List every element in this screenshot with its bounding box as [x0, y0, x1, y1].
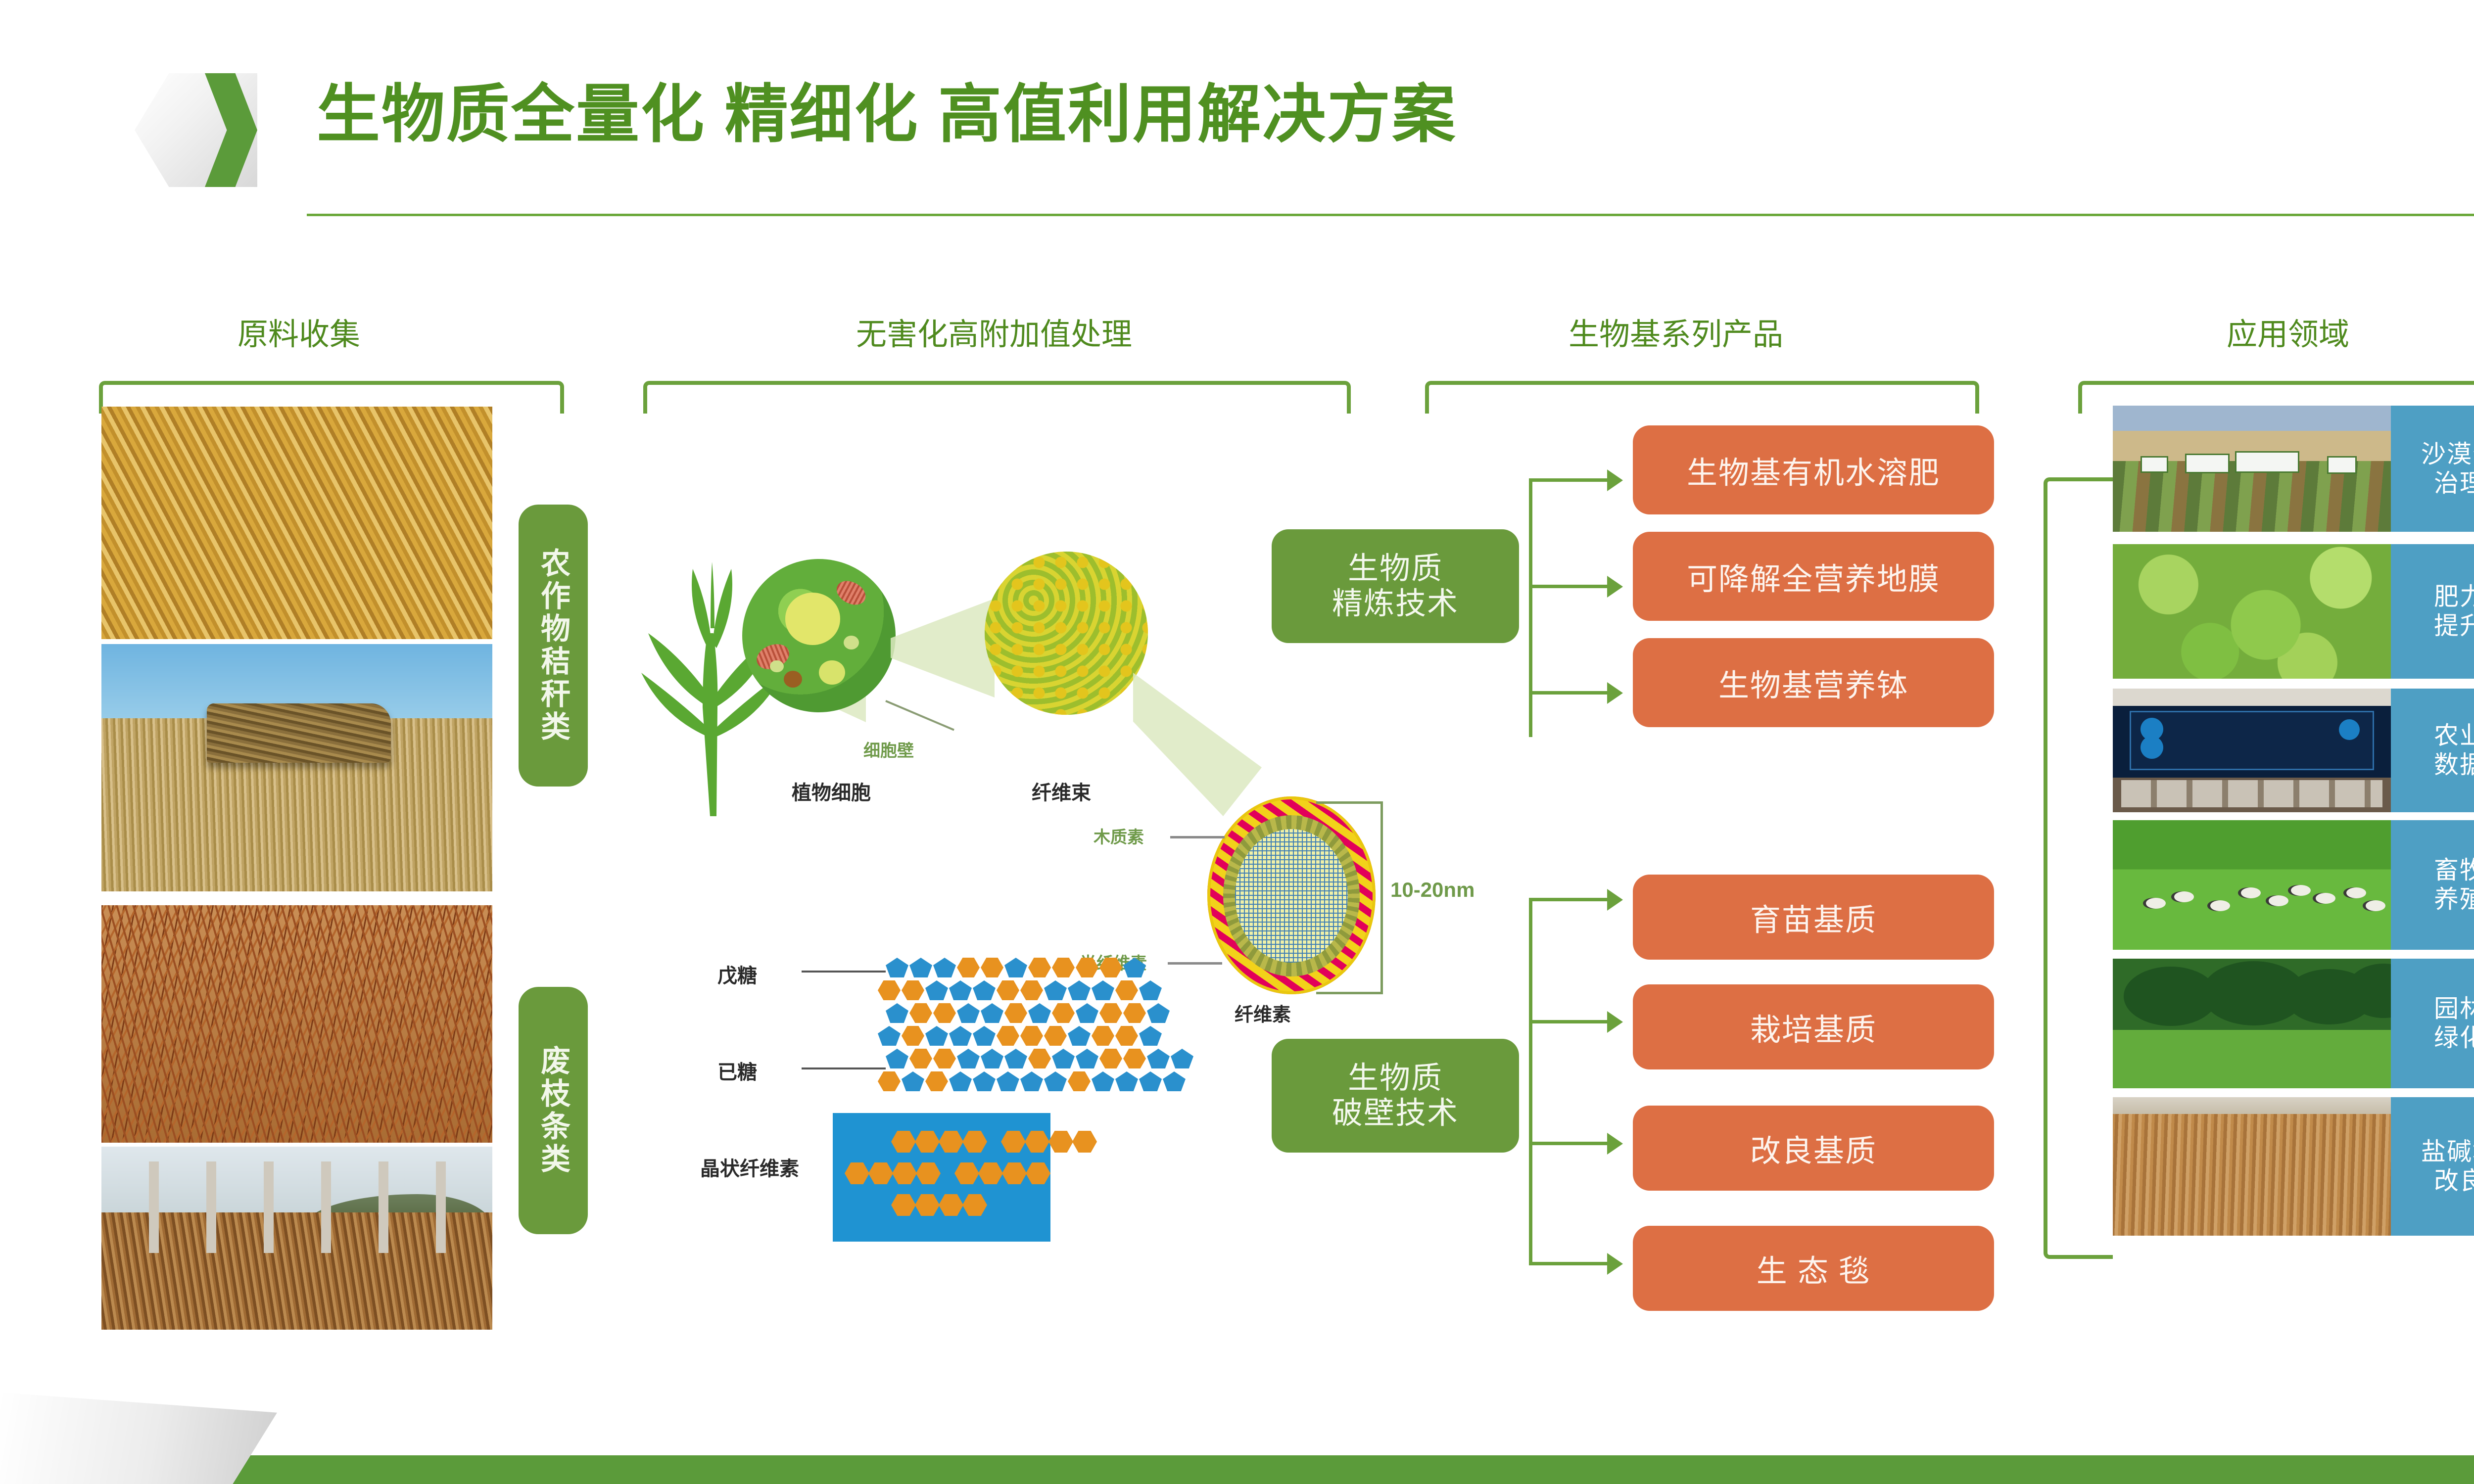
hexose-unit	[957, 958, 980, 977]
hexose-unit	[1123, 1049, 1146, 1068]
arrow-head-r2	[1607, 576, 1623, 598]
hexose-unit	[1004, 1003, 1027, 1023]
hexose-unit	[1115, 1026, 1138, 1046]
product-pill-bio-nutrient-pot[interactable]: 生物基营养钵	[1633, 638, 1994, 727]
pentose-unit	[973, 1071, 996, 1091]
crystalline-glucose-unit	[892, 1162, 917, 1184]
photo-agriculture-data-center	[2113, 689, 2391, 812]
sugar-chain-row	[886, 1003, 1171, 1023]
crystalline-glucose-unit	[939, 1131, 963, 1153]
hexose-unit	[1076, 958, 1098, 977]
application-row-saline[interactable]: 盐碱地 改良	[2113, 1097, 2474, 1236]
crystalline-glucose-unit	[868, 1162, 893, 1184]
feedstock-category-crop-straw[interactable]: 农作物秸秆类	[519, 505, 588, 787]
crystalline-cellulose-diagram	[833, 1113, 1050, 1242]
application-row-agridata[interactable]: 农业 数据	[2113, 689, 2474, 812]
sugar-chain-row	[878, 1071, 1187, 1091]
dimension-tick-bottom	[1316, 992, 1383, 994]
photo-cabbage-field	[2113, 544, 2391, 679]
product-pill-bio-organic-fertilizer[interactable]: 生物基有机水溶肥	[1633, 425, 1994, 514]
hexose-unit	[933, 1049, 956, 1068]
hexose-unit	[1099, 958, 1122, 977]
page-title: 生物质全量化 精细化 高值利用解决方案	[317, 83, 1457, 146]
crystalline-glucose-unit	[978, 1162, 1003, 1184]
application-row-desert[interactable]: 沙漠化 治理	[2113, 406, 2474, 532]
pentose-unit	[909, 958, 932, 977]
sugar-chain-row	[878, 1026, 1163, 1046]
pentose-unit	[1123, 958, 1146, 977]
crystalline-glucose-unit	[1002, 1162, 1027, 1184]
tech-pill-line1: 生物质	[1348, 1061, 1443, 1096]
section-heading-processing: 无害化高附加值处理	[856, 309, 1132, 354]
product-pill-biodegradable-mulch-film[interactable]: 可降解全营养地膜	[1633, 532, 1994, 621]
hexose-unit	[997, 1026, 1019, 1046]
pentose-unit	[878, 1026, 901, 1046]
hexose-unit	[1028, 1049, 1051, 1068]
arrow-head-w2	[1607, 1011, 1623, 1033]
tech-pill-line1: 生物质	[1348, 551, 1443, 586]
connector-branch-w2	[1529, 1020, 1608, 1023]
application-tag-agridata: 农业 数据	[2391, 689, 2474, 812]
lignin-leader-line	[1170, 836, 1225, 838]
pentose-unit	[1004, 958, 1027, 977]
pentose-unit	[949, 1026, 972, 1046]
product-pill-seedling-substrate[interactable]: 育苗基质	[1633, 875, 1994, 960]
feedstock-category-waste-branches[interactable]: 废枝条类	[519, 987, 588, 1234]
hexose-unit	[1020, 1026, 1043, 1046]
bracket-processing	[643, 381, 1351, 414]
photo-straw-bale-field	[101, 644, 492, 891]
crystalline-glucose-unit	[1001, 1131, 1026, 1153]
pentose-unit	[957, 1049, 980, 1068]
connector-branch-w4	[1529, 1262, 1608, 1265]
application-tag-line2: 数据	[2434, 750, 2474, 780]
connector-branch-r1	[1529, 478, 1608, 482]
connector-branch-r3	[1529, 691, 1608, 695]
pentose-unit	[1115, 1071, 1138, 1091]
crystalline-glucose-unit	[915, 1131, 940, 1153]
tech-pill-line2: 精炼技术	[1332, 586, 1459, 621]
hexose-unit	[909, 1003, 932, 1023]
pentose-unit	[925, 980, 948, 1000]
pentose-unit	[997, 1071, 1019, 1091]
section-heading-applications: 应用领域	[2227, 309, 2349, 354]
pentose-unit	[1139, 980, 1162, 1000]
sugar-chain-row	[886, 1049, 1194, 1068]
bracket-products	[1425, 381, 1979, 414]
label-hexose: 已糖	[717, 1056, 757, 1085]
application-row-landscaping[interactable]: 园林 绿化	[2113, 959, 2474, 1088]
header-hex-logo	[135, 73, 257, 187]
hexose-unit	[1068, 1071, 1091, 1091]
bracket-applications-side	[2044, 477, 2113, 1259]
arrow-head-r1	[1607, 469, 1623, 491]
application-row-fertility[interactable]: 肥力 提升	[2113, 544, 2474, 679]
pentose-unit	[973, 980, 996, 1000]
label-crystalline-cellulose: 晶状纤维素	[700, 1153, 799, 1181]
photo-pruned-branches	[101, 905, 492, 1143]
hexose-unit	[1028, 958, 1051, 977]
crystalline-glucose-unit	[845, 1162, 869, 1184]
application-tag-livestock: 畜牧 养殖	[2391, 820, 2474, 950]
pentose-unit	[1076, 1003, 1098, 1023]
hexose-unit	[902, 1026, 924, 1046]
cell-wall-leader-line	[885, 700, 954, 731]
crystalline-glucose-unit	[962, 1131, 987, 1153]
pentose-unit	[1163, 1071, 1186, 1091]
arrow-head-w3	[1607, 1133, 1623, 1155]
connector-branch-w1	[1529, 898, 1608, 901]
hexose-unit	[1092, 1026, 1114, 1046]
pentose-unit	[1052, 1049, 1075, 1068]
pentose-unit	[925, 1026, 948, 1046]
label-cell-wall: 细胞壁	[863, 737, 914, 761]
hexose-unit	[1052, 1003, 1075, 1023]
hemicellulose-leader-line	[1168, 962, 1222, 965]
photo-corn-straw-field	[101, 407, 492, 639]
hexose-unit	[1052, 958, 1075, 977]
label-plant-cell: 植物细胞	[792, 777, 871, 805]
arrow-head-r3	[1607, 682, 1623, 704]
crystalline-glucose-unit	[915, 1194, 940, 1216]
fiber-bundle-diagram	[985, 552, 1148, 715]
crystalline-glucose-unit	[954, 1162, 979, 1184]
pentose-unit	[886, 958, 908, 977]
pentose-unit	[1076, 1049, 1098, 1068]
photo-orchard-pruning	[101, 1147, 492, 1330]
application-tag-line1: 盐碱地	[2421, 1137, 2474, 1166]
label-lignin: 木质素	[1094, 824, 1144, 848]
zoom-cone-2	[891, 599, 995, 697]
hexose-unit	[909, 1049, 932, 1068]
application-tag-line2: 提升	[2434, 611, 2474, 641]
pentose-unit	[1068, 980, 1091, 1000]
pentose-unit	[933, 958, 956, 977]
sugar-chain-row	[886, 958, 1147, 977]
pentose-unit	[1092, 1071, 1114, 1091]
arrow-head-w1	[1607, 889, 1623, 911]
product-pill-improved-substrate[interactable]: 改良基质	[1633, 1106, 1994, 1191]
pentose-unit	[1004, 1049, 1027, 1068]
pentose-unit	[1044, 980, 1067, 1000]
crystalline-glucose-unit	[1025, 1131, 1049, 1153]
application-tag-line1: 沙漠化	[2421, 440, 2474, 469]
crystalline-glucose-unit	[916, 1162, 941, 1184]
pentose-unit	[981, 1049, 1003, 1068]
pentose-unit	[1147, 1049, 1170, 1068]
pentose-unit	[1092, 980, 1114, 1000]
application-tag-line2: 改良	[2434, 1166, 2474, 1196]
crystalline-glucose-unit	[1026, 1162, 1050, 1184]
product-pill-cultivation-substrate[interactable]: 栽培基质	[1633, 984, 1994, 1069]
pentose-unit	[949, 980, 972, 1000]
hexose-unit	[1099, 1049, 1122, 1068]
application-tag-fertility: 肥力 提升	[2391, 544, 2474, 679]
application-tag-line1: 畜牧	[2434, 856, 2474, 885]
pentose-unit	[1139, 1026, 1162, 1046]
label-pentose: 戊糖	[717, 960, 757, 988]
pentose-unit	[886, 1049, 908, 1068]
hexose-unit	[981, 958, 1003, 977]
dimension-bar	[1380, 801, 1383, 994]
pentose-leader-line	[802, 971, 886, 973]
pentose-unit	[949, 1071, 972, 1091]
pentose-unit	[1020, 1071, 1043, 1091]
hexose-unit	[878, 1071, 901, 1091]
application-tag-line2: 绿化	[2434, 1023, 2474, 1053]
connector-trunk-refining	[1529, 480, 1532, 737]
pentose-unit	[1044, 1071, 1067, 1091]
crystalline-glucose-unit	[962, 1194, 987, 1216]
hexose-unit	[933, 1003, 956, 1023]
hexose-unit	[925, 1071, 948, 1091]
pentose-unit	[981, 1003, 1003, 1023]
crystalline-glucose-unit	[891, 1194, 916, 1216]
section-heading-products: 生物基系列产品	[1569, 309, 1783, 354]
cellulose-core	[1235, 829, 1348, 963]
plant-cell-diagram	[742, 559, 896, 712]
connector-branch-w3	[1529, 1142, 1608, 1145]
feedstock-category-label: 农作物秸秆类	[538, 548, 569, 743]
product-pill-ecological-blanket[interactable]: 生 态 毯	[1633, 1226, 1994, 1311]
crystalline-glucose-unit	[1048, 1131, 1073, 1153]
label-cellulose: 纤维素	[1235, 999, 1291, 1026]
photo-desert-control	[2113, 406, 2391, 532]
hexose-unit	[902, 980, 924, 1000]
pentose-unit	[1068, 1026, 1091, 1046]
photo-landscape-garden	[2113, 959, 2391, 1088]
pentose-unit	[1171, 1049, 1193, 1068]
tech-pill-wall-breaking[interactable]: 生物质 破壁技术	[1272, 1039, 1519, 1153]
hexose-unit	[1044, 1026, 1067, 1046]
hexose-unit	[997, 980, 1019, 1000]
pentose-unit	[886, 1003, 908, 1023]
zoom-cone-3	[1133, 673, 1262, 816]
arrow-head-w4	[1607, 1253, 1623, 1275]
dimension-tick-top	[1316, 801, 1383, 804]
pentose-unit	[902, 1071, 924, 1091]
application-tag-desert: 沙漠化 治理	[2391, 406, 2474, 532]
label-dimension: 10-20nm	[1390, 878, 1475, 902]
sugar-chain-row	[878, 980, 1163, 1000]
hexose-unit	[1115, 980, 1138, 1000]
application-tag-line1: 农业	[2434, 721, 2474, 750]
application-tag-line1: 园林	[2434, 994, 2474, 1023]
hexose-unit	[1123, 1003, 1146, 1023]
hexose-unit	[1020, 980, 1043, 1000]
title-divider	[307, 214, 2474, 216]
application-tag-line1: 肥力	[2434, 582, 2474, 611]
crystalline-glucose-unit	[1072, 1131, 1097, 1153]
tech-pill-line2: 破壁技术	[1332, 1096, 1459, 1131]
pentose-unit	[957, 1003, 980, 1023]
application-row-livestock[interactable]: 畜牧 养殖	[2113, 820, 2474, 950]
hexose-unit	[1099, 1003, 1122, 1023]
application-tag-landscaping: 园林 绿化	[2391, 959, 2474, 1088]
hexose-unit	[878, 980, 901, 1000]
feedstock-category-label: 废枝条类	[538, 1045, 569, 1176]
connector-trunk-wallbreaking	[1529, 899, 1532, 1265]
section-heading-collection: 原料收集	[238, 309, 360, 354]
application-tag-line2: 养殖	[2434, 885, 2474, 914]
connector-branch-r2	[1529, 585, 1608, 588]
crystalline-glucose-unit	[939, 1194, 963, 1216]
label-fiber-bundle: 纤维束	[1032, 777, 1091, 805]
photo-sheep-pasture	[2113, 820, 2391, 950]
pentose-unit	[1028, 1003, 1051, 1023]
pentose-unit	[1147, 1003, 1170, 1023]
pentose-unit	[1139, 1071, 1162, 1091]
pentose-unit	[973, 1026, 996, 1046]
bottom-accent-bar	[0, 1455, 2474, 1484]
photo-saline-alkali-soil	[2113, 1097, 2391, 1236]
bottom-wedge-decoration	[0, 1392, 277, 1484]
application-tag-line2: 治理	[2434, 469, 2474, 498]
hexose-leader-line	[802, 1067, 886, 1069]
tech-pill-refining[interactable]: 生物质 精炼技术	[1272, 529, 1519, 643]
application-tag-saline: 盐碱地 改良	[2391, 1097, 2474, 1236]
crystalline-glucose-unit	[891, 1131, 916, 1153]
